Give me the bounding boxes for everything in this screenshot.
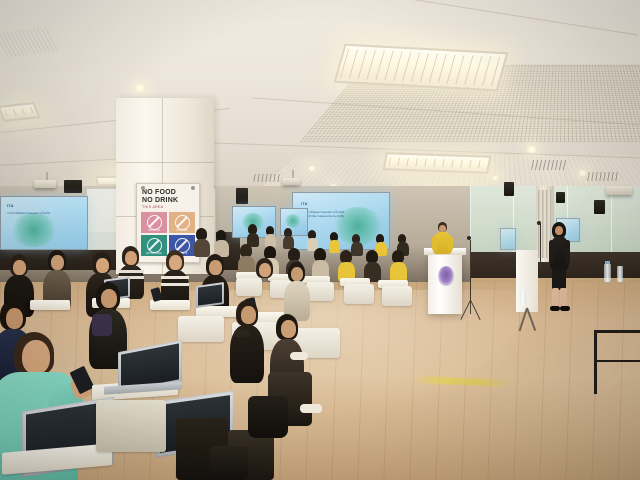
ceiling-projector xyxy=(282,178,300,185)
slide-headline-left: การประเมินคุณธรรมและความโปร่งใส xyxy=(7,212,50,216)
sign-icon-grid: NO FOOD NO DRINK NO SMOKING NO PETS xyxy=(141,212,195,256)
ceiling-downlight xyxy=(492,176,499,180)
tablet-arm-desk xyxy=(30,300,70,310)
bag xyxy=(210,446,248,480)
no-food-no-drink-sign: NO FOOD NO DRINK THIS AREA NO FOOD NO DR… xyxy=(136,183,200,263)
sign-title: NO FOOD NO DRINK xyxy=(142,189,199,204)
shoe xyxy=(290,352,308,360)
no-smoking-icon: NO SMOKING xyxy=(141,235,167,256)
shoe xyxy=(234,330,250,337)
ceiling-air-vent xyxy=(253,174,282,182)
wall-monitor xyxy=(594,200,605,214)
microphone-head-2 xyxy=(537,221,541,225)
seminar-room-photo: NO FOOD NO DRINK THIS AREA NO FOOD NO DR… xyxy=(0,0,640,480)
wall-speaker xyxy=(236,188,248,204)
audience-chair xyxy=(344,284,374,304)
microphone-stand-2 xyxy=(540,224,541,270)
microphone-stand xyxy=(470,240,471,308)
wall-speaker xyxy=(504,182,514,196)
equipment-frame-stand xyxy=(592,330,640,396)
microphone-head xyxy=(467,236,471,240)
no-drink-icon: NO DRINK xyxy=(169,212,195,233)
water-bottle-cap xyxy=(605,261,610,264)
shoe xyxy=(300,404,322,413)
audience-chair xyxy=(178,316,224,342)
ceiling-projector xyxy=(34,180,56,188)
ceiling-downlight xyxy=(308,166,316,171)
water-bottle xyxy=(604,264,611,282)
ceiling-light-fixture xyxy=(383,152,492,174)
wall-monitor xyxy=(556,192,565,203)
ceiling-downlight xyxy=(578,170,587,176)
ceiling-air-vent xyxy=(587,172,619,181)
podium-emblem xyxy=(438,266,454,286)
ceiling-projector xyxy=(606,186,632,195)
tablet-arm-desk xyxy=(150,300,190,310)
bag xyxy=(248,396,288,438)
left-projection-screen: ITA การประเมินคุณธรรมและความโปร่งใส xyxy=(0,196,88,250)
slide-brand-left: ITA xyxy=(7,203,50,208)
slide-brand: ITA xyxy=(301,201,344,206)
ceiling-downlight xyxy=(133,84,146,92)
audience-chair-foreground xyxy=(96,400,166,452)
secondary-screen-4 xyxy=(500,228,516,250)
audience-chair xyxy=(306,282,334,301)
ceiling-air-vent xyxy=(531,160,567,170)
audience-chair xyxy=(382,286,412,306)
laptop-lid xyxy=(196,282,224,308)
water-bottle xyxy=(617,266,623,282)
no-food-icon: NO FOOD xyxy=(141,212,167,233)
water-bottle xyxy=(520,290,526,305)
mic-tripod-leg xyxy=(470,300,471,314)
ceiling-downlight xyxy=(526,146,537,153)
sign-subtitle: THIS AREA xyxy=(142,205,199,209)
wall-speaker xyxy=(64,180,82,193)
